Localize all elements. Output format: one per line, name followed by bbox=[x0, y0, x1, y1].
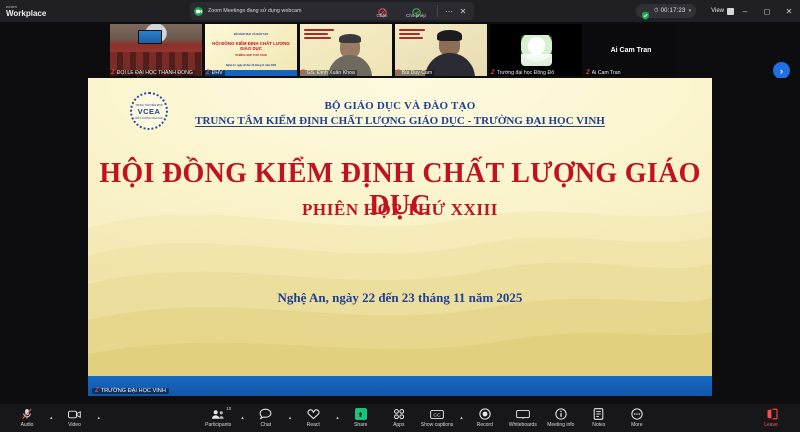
slide-header-line-2: TRUNG TÂM KIỂM ĐỊNH CHẤT LƯỢNG GIÁO DỤC … bbox=[88, 115, 712, 127]
apps-icon bbox=[393, 408, 405, 420]
captions-chevron-up-icon[interactable]: ▴ bbox=[457, 405, 466, 431]
zoom-meeting-window: zoom Workplace Zoom Meetings đang sử dụn… bbox=[0, 0, 800, 432]
thumbnail-name-badge: Z ĐHV bbox=[205, 70, 225, 76]
thumbnail-tile[interactable]: Z Bùi Duy Cam bbox=[395, 24, 487, 76]
thumbnail-tile[interactable]: Ai Cam Tran Z Ai Cam Tran bbox=[585, 24, 677, 76]
heart-icon bbox=[307, 408, 320, 420]
meeting-elapsed-time: 00:17:23 bbox=[661, 8, 686, 14]
maximize-icon[interactable]: ◻ bbox=[756, 0, 778, 22]
notes-button[interactable]: Notes bbox=[580, 405, 618, 431]
record-label: Record bbox=[477, 422, 493, 428]
mini-slide-subtitle: PHIÊN HỌP THỨ XXIII bbox=[235, 53, 266, 57]
mini-slide-title: HỘI ĐỒNG KIỂM ĐỊNH CHẤT LƯỢNG GIÁO DỤC bbox=[208, 41, 294, 51]
presenter-name-badge: Z TRƯỜNG ĐẠI HỌC VINH bbox=[92, 388, 169, 394]
video-chevron-up-icon[interactable]: ▴ bbox=[95, 405, 104, 431]
zoom-mark-icon: Z bbox=[301, 70, 305, 76]
audio-label: Audio bbox=[21, 422, 34, 428]
mini-slide-header: BỘ GIÁO DỤC VÀ ĐÀO TẠO bbox=[234, 33, 269, 36]
audio-button[interactable]: Audio bbox=[8, 405, 46, 431]
participant-name: ĐỘI LÊ ĐẠI HỌC THÀNH ĐỒNG bbox=[117, 70, 193, 76]
slide-date-line: Nghệ An, ngày 22 đến 23 tháng 11 năm 202… bbox=[88, 290, 712, 306]
zoom-mark-icon: Z bbox=[396, 70, 400, 76]
titlebar-right-cluster: ⏱ 00:17:23 ▾ View – ◻ ✕ bbox=[636, 0, 800, 22]
thumbnail-tile[interactable]: Z Trường đại học Đông Đô bbox=[490, 24, 582, 76]
microphone-muted-icon bbox=[21, 408, 33, 420]
layout-icon bbox=[727, 8, 734, 15]
chat-chevron-up-icon[interactable]: ▴ bbox=[286, 405, 295, 431]
close-icon[interactable]: ✕ bbox=[456, 7, 470, 16]
show-captions-label: Show captions bbox=[421, 422, 454, 428]
shared-screen-stage: TRUNG TÂM KIỂM ĐỊNH VCEA CHẤT LƯỢNG GIÁO… bbox=[0, 78, 800, 404]
brand-main-label: Workplace bbox=[6, 10, 46, 18]
participants-button[interactable]: 10 Participants bbox=[199, 405, 237, 431]
background-document bbox=[399, 29, 425, 41]
react-label: React bbox=[307, 422, 320, 428]
shared-slide: TRUNG TÂM KIỂM ĐỊNH VCEA CHẤT LƯỢNG GIÁO… bbox=[88, 78, 712, 396]
share-screen-icon bbox=[355, 408, 367, 420]
more-label: More bbox=[631, 422, 642, 428]
camera-icon bbox=[194, 7, 203, 16]
block-icon bbox=[378, 4, 387, 13]
participants-count: 10 bbox=[226, 406, 231, 411]
brand-sub-label: zoom bbox=[6, 5, 46, 9]
chat-group: Chat ▴ bbox=[247, 405, 295, 431]
leave-door-icon bbox=[765, 408, 778, 420]
camera-permission-toast: Zoom Meetings đang sử dụng webcam Chặn C… bbox=[190, 2, 474, 20]
zoom-mark-icon: Z bbox=[95, 388, 99, 394]
leave-meeting-button[interactable]: Leave bbox=[752, 405, 790, 431]
block-label: Chặn bbox=[377, 13, 388, 18]
view-selector[interactable]: View bbox=[711, 8, 734, 15]
presenter-name: TRƯỜNG ĐẠI HỌC VINH bbox=[101, 388, 166, 394]
app-branding: zoom Workplace bbox=[0, 5, 46, 18]
meeting-info-button[interactable]: Meeting info bbox=[542, 405, 580, 431]
slide-header-line-1: BỘ GIÁO DỤC VÀ ĐÀO TẠO bbox=[88, 100, 712, 112]
toolbar-left-group: Audio ▴ Video ▴ bbox=[0, 405, 103, 431]
participants-group: 10 Participants ▴ bbox=[199, 405, 247, 431]
captions-group: CC Show captions ▴ bbox=[418, 405, 466, 431]
apps-button[interactable]: Apps bbox=[380, 405, 418, 431]
info-icon bbox=[555, 408, 567, 420]
participant-filmstrip[interactable]: Z ĐỘI LÊ ĐẠI HỌC THÀNH ĐỒNG BỘ GIÁO DỤC … bbox=[0, 22, 800, 78]
audio-group: Audio ▴ bbox=[8, 405, 56, 431]
chat-label: Chat bbox=[260, 422, 271, 428]
leave-label: Leave bbox=[764, 422, 778, 428]
view-label: View bbox=[711, 8, 724, 14]
close-icon[interactable]: ✕ bbox=[778, 0, 800, 22]
minimize-icon[interactable]: – bbox=[734, 0, 756, 22]
participant-name: ĐHV bbox=[212, 70, 223, 76]
thumbnail-name-badge: Z Trường đại học Đông Đô bbox=[490, 70, 556, 76]
zoom-mark-icon: Z bbox=[586, 70, 590, 76]
video-feed-meeting-room bbox=[110, 24, 202, 76]
apps-label: Apps bbox=[393, 422, 404, 428]
react-group: React ▴ bbox=[294, 405, 342, 431]
more-ellipsis-icon bbox=[631, 408, 643, 420]
react-chevron-up-icon[interactable]: ▴ bbox=[333, 405, 342, 431]
chevron-down-icon[interactable]: ▾ bbox=[689, 8, 692, 14]
participant-name: Ai Cam Tran bbox=[592, 70, 621, 76]
permission-message: Zoom Meetings đang sử dụng webcam bbox=[208, 8, 365, 14]
participants-chevron-up-icon[interactable]: ▴ bbox=[238, 405, 247, 431]
thumbnail-tile[interactable]: BỘ GIÁO DỤC VÀ ĐÀO TẠO HỘI ĐỒNG KIỂM ĐỊN… bbox=[205, 24, 297, 76]
show-captions-button[interactable]: CC Show captions bbox=[418, 405, 457, 431]
chat-bubble-icon bbox=[259, 408, 272, 420]
video-feed-speaker bbox=[300, 24, 392, 76]
thumbnail-name-badge: Z Bùi Duy Cam bbox=[395, 70, 434, 76]
notes-label: Notes bbox=[592, 422, 605, 428]
shield-check-icon bbox=[641, 7, 650, 16]
video-feed-shared-slide: BỘ GIÁO DỤC VÀ ĐÀO TẠO HỘI ĐỒNG KIỂM ĐỊN… bbox=[205, 24, 297, 76]
video-feed-speaker bbox=[395, 24, 487, 76]
titlebar: zoom Workplace Zoom Meetings đang sử dụn… bbox=[0, 0, 800, 22]
allow-camera-button[interactable]: Cho phép bbox=[399, 4, 433, 18]
participants-label: Participants bbox=[205, 422, 231, 428]
slide-subtitle: PHIÊN HỌP THỨ XXIII bbox=[88, 200, 712, 220]
video-feed-name-only: Ai Cam Tran bbox=[585, 24, 677, 76]
meeting-toolbar: Audio ▴ Video ▴ 10 bbox=[0, 404, 800, 432]
participant-display-name: Ai Cam Tran bbox=[611, 47, 652, 54]
react-button[interactable]: React bbox=[294, 405, 332, 431]
whiteboards-button[interactable]: Whiteboards bbox=[504, 405, 542, 431]
slide-footer-bar bbox=[88, 376, 712, 396]
thumbnail-tile[interactable]: Z ĐỘI LÊ ĐẠI HỌC THÀNH ĐỒNG bbox=[110, 24, 202, 76]
camera-icon bbox=[68, 408, 81, 420]
toolbar-right-group: Leave bbox=[752, 405, 800, 431]
meeting-info-label: Meeting info bbox=[547, 422, 574, 428]
university-logo-icon bbox=[521, 35, 552, 66]
video-button[interactable]: Video bbox=[56, 405, 94, 431]
whiteboard-icon bbox=[516, 408, 530, 420]
participant-name: Trường đại học Đông Đô bbox=[497, 70, 554, 76]
ellipsis-icon[interactable]: ⋯ bbox=[442, 7, 456, 16]
notes-icon bbox=[593, 408, 604, 420]
video-feed-logo-avatar bbox=[490, 24, 582, 76]
thumbnail-tile[interactable]: Z GS. Đinh Xuân Khoa bbox=[300, 24, 392, 76]
clock-icon: ⏱ bbox=[654, 8, 659, 15]
thumbnail-name-badge: Z ĐỘI LÊ ĐẠI HỌC THÀNH ĐỒNG bbox=[110, 70, 195, 76]
allow-check-icon bbox=[412, 4, 421, 13]
chat-button[interactable]: Chat bbox=[247, 405, 285, 431]
audio-chevron-up-icon[interactable]: ▴ bbox=[47, 405, 56, 431]
block-camera-button[interactable]: Chặn bbox=[365, 4, 399, 18]
thumbnail-name-badge: Z Ai Cam Tran bbox=[585, 70, 623, 76]
thumbnail-name-badge: Z GS. Đinh Xuân Khoa bbox=[300, 70, 357, 76]
whiteboards-label: Whiteboards bbox=[509, 422, 537, 428]
meeting-status-pill[interactable]: ⏱ 00:17:23 ▾ bbox=[636, 4, 696, 18]
slide-header: BỘ GIÁO DỤC VÀ ĐÀO TẠO TRUNG TÂM KIỂM ĐỊ… bbox=[88, 100, 712, 127]
toast-divider bbox=[437, 5, 438, 17]
zoom-mark-icon: Z bbox=[111, 70, 115, 76]
participant-name: Bùi Duy Cam bbox=[402, 70, 433, 76]
video-group: Video ▴ bbox=[56, 405, 104, 431]
zoom-mark-icon: Z bbox=[491, 70, 495, 76]
background-document bbox=[304, 29, 334, 41]
closed-caption-icon: CC bbox=[430, 408, 444, 420]
toolbar-center-group: 10 Participants ▴ Chat ▴ bbox=[103, 405, 752, 431]
share-screen-button[interactable]: Share bbox=[342, 405, 380, 431]
record-icon bbox=[479, 408, 491, 420]
record-button[interactable]: Record bbox=[466, 405, 504, 431]
video-label: Video bbox=[68, 422, 81, 428]
chevron-right-icon[interactable]: › bbox=[773, 62, 790, 79]
window-controls: – ◻ ✕ bbox=[734, 0, 800, 22]
participants-icon bbox=[211, 408, 225, 420]
mini-slide-date: Nghệ An, ngày 22 đến 23 tháng 11 năm 202… bbox=[226, 64, 276, 67]
zoom-mark-icon: Z bbox=[206, 70, 210, 76]
participant-name: GS. Đinh Xuân Khoa bbox=[307, 70, 355, 76]
svg-text:CC: CC bbox=[433, 413, 441, 419]
share-label: Share bbox=[354, 422, 367, 428]
more-button[interactable]: More bbox=[618, 405, 656, 431]
allow-label: Cho phép bbox=[406, 13, 426, 18]
